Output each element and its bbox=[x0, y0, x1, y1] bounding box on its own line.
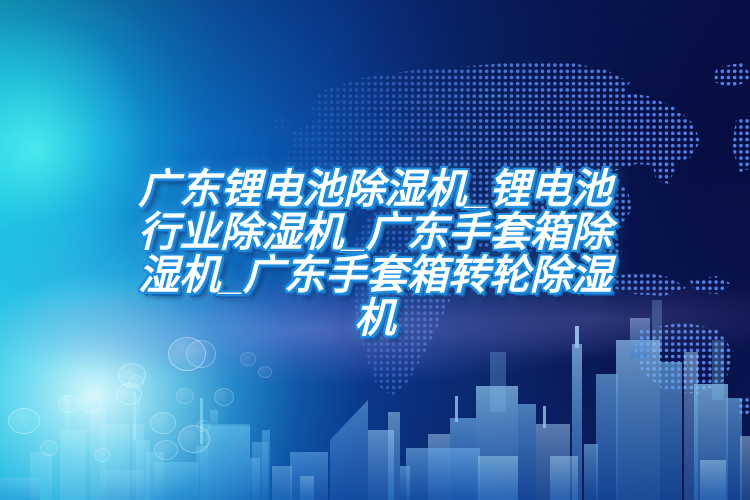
bokeh-circle bbox=[58, 395, 78, 413]
bokeh-circle bbox=[168, 337, 206, 371]
bokeh-circle bbox=[258, 366, 272, 378]
headline-block: 广东锂电池除湿机_锂电池 行业除湿机_广东手套箱除 湿机_广东手套箱转轮除湿 机 bbox=[88, 168, 662, 340]
bokeh-circle bbox=[94, 448, 110, 462]
bokeh-circle bbox=[128, 375, 144, 389]
bokeh-circle bbox=[116, 383, 142, 405]
bokeh-circle bbox=[214, 388, 234, 406]
bokeh-circle bbox=[8, 408, 40, 434]
bokeh-circle bbox=[40, 440, 58, 456]
bokeh-circle bbox=[78, 393, 102, 413]
banner-image: 广东锂电池除湿机_锂电池 行业除湿机_广东手套箱除 湿机_广东手套箱转轮除湿 机 bbox=[0, 0, 750, 500]
bokeh-circle bbox=[196, 420, 210, 432]
bokeh-circle bbox=[118, 363, 146, 387]
bokeh-circle bbox=[150, 412, 176, 434]
bokeh-circle bbox=[176, 388, 194, 404]
bokeh-circle bbox=[240, 352, 256, 366]
page-title: 广东锂电池除湿机_锂电池 行业除湿机_广东手套箱除 湿机_广东手套箱转轮除湿 机 bbox=[88, 168, 662, 340]
bokeh-circle bbox=[178, 425, 210, 453]
bokeh-circle bbox=[186, 340, 216, 368]
bokeh-circle bbox=[154, 440, 178, 460]
